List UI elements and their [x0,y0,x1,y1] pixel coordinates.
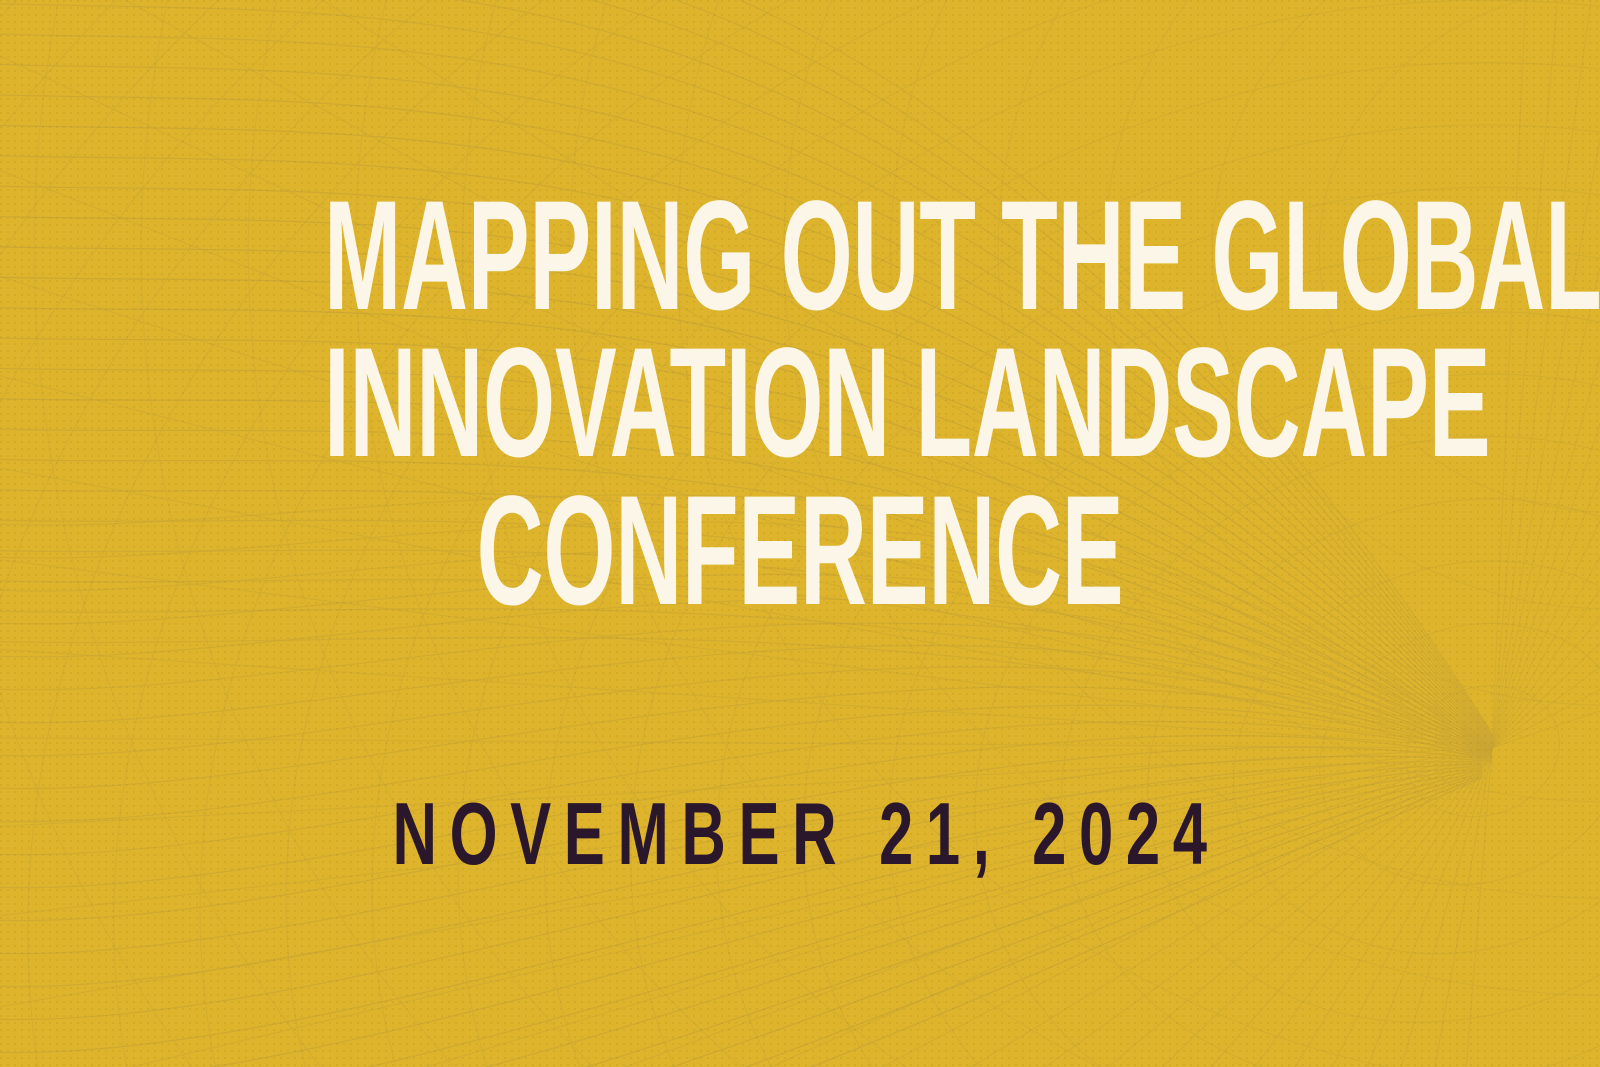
headline-line-1: MAPPING OUT THE GLOBAL [324,183,1276,330]
headline-block: MAPPING OUT THE GLOBAL INNOVATION LANDSC… [0,183,1600,625]
poster-content: MAPPING OUT THE GLOBAL INNOVATION LANDSC… [0,0,1600,1067]
headline-line-3: CONFERENCE [324,478,1276,625]
page-title: MAPPING OUT THE GLOBAL INNOVATION LANDSC… [324,183,1276,625]
event-date: NOVEMBER 21, 2024 [380,790,1220,878]
event-poster: MAPPING OUT THE GLOBAL INNOVATION LANDSC… [0,0,1600,1067]
headline-line-2: INNOVATION LANDSCAPE [324,330,1276,477]
event-date-block: NOVEMBER 21, 2024 [0,790,1600,878]
